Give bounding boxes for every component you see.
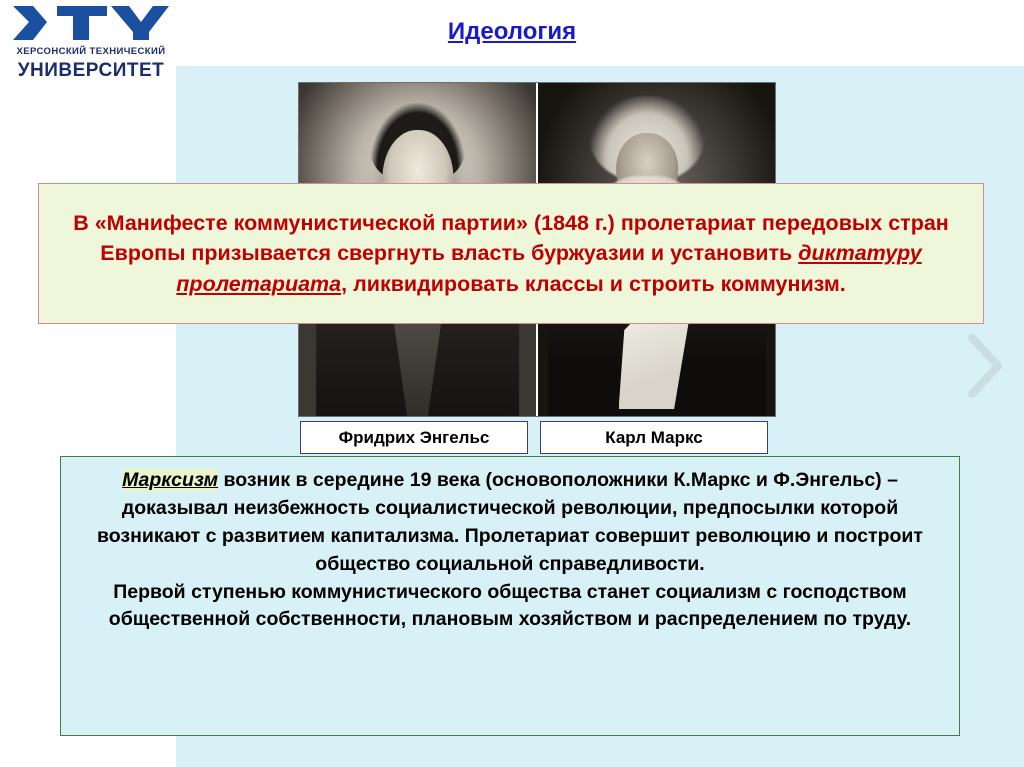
- caption-marx: Карл Маркс: [540, 421, 768, 454]
- slide-root: ХЕРСОНСКИЙ ТЕХНИЧЕСКИЙ УНИВЕРСИТЕТ Идеол…: [0, 0, 1024, 767]
- marxism-paragraph-1: Марксизм возник в середине 19 века (осно…: [75, 467, 945, 579]
- manifesto-quote-box: В «Манифесте коммунистической партии» (1…: [38, 183, 984, 324]
- university-logo: ХЕРСОНСКИЙ ТЕХНИЧЕСКИЙ УНИВЕРСИТЕТ: [6, 2, 176, 102]
- logo-subtitle-line2: УНИВЕРСИТЕТ: [6, 60, 176, 82]
- marxism-body: возник в середине 19 века (основоположни…: [97, 469, 923, 575]
- logo-subtitle-line1: ХЕРСОНСКИЙ ТЕХНИЧЕСКИЙ: [6, 46, 176, 57]
- caption-engels: Фридрих Энгельс: [300, 421, 528, 454]
- marxism-highlight: Марксизм: [122, 469, 218, 491]
- page-title: Идеология: [0, 18, 1024, 46]
- manifesto-quote-text: В «Манифесте коммунистической партии» (1…: [46, 208, 976, 300]
- marxism-paragraph-2: Первой ступенью коммунистического общест…: [75, 579, 945, 635]
- marxism-text-box: Марксизм возник в середине 19 века (осно…: [60, 456, 960, 736]
- quote-part2: , ликвидировать классы и строить коммуни…: [341, 272, 846, 296]
- next-slide-arrow-icon[interactable]: [960, 330, 1008, 402]
- slide-header: ХЕРСОНСКИЙ ТЕХНИЧЕСКИЙ УНИВЕРСИТЕТ Идеол…: [0, 0, 1024, 66]
